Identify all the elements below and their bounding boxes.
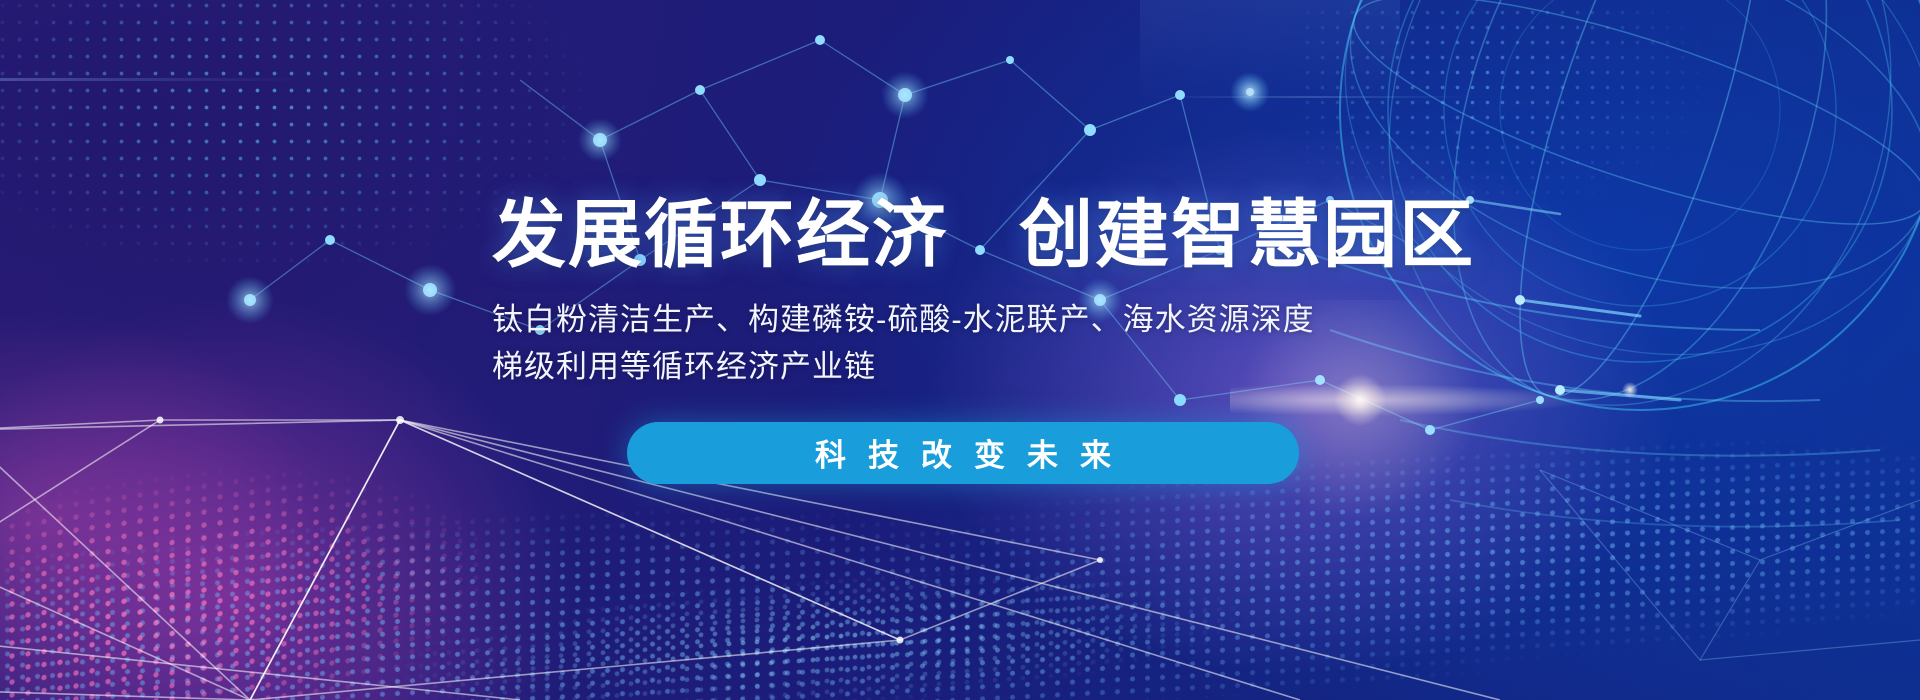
- banner-content: 发展循环经济 创建智慧园区 钛白粉清洁生产、构建磷铵-硫酸-水泥联产、海水资源深…: [0, 0, 1920, 700]
- hero-banner: 发展循环经济 创建智慧园区 钛白粉清洁生产、构建磷铵-硫酸-水泥联产、海水资源深…: [0, 0, 1920, 700]
- page-title: 发展循环经济 创建智慧园区: [492, 198, 1475, 272]
- headline-part-1: 发展循环经济: [492, 193, 948, 276]
- slogan-button-label: 科技改变未来: [793, 430, 1133, 475]
- subtitle-line-2: 梯级利用等循环经济产业链: [492, 345, 876, 390]
- subtitle-line-1: 钛白粉清洁生产、构建磷铵-硫酸-水泥联产、海水资源深度: [492, 298, 1315, 343]
- headline-part-2: 创建智慧园区: [1019, 193, 1475, 276]
- slogan-button[interactable]: 科技改变未来: [627, 422, 1299, 484]
